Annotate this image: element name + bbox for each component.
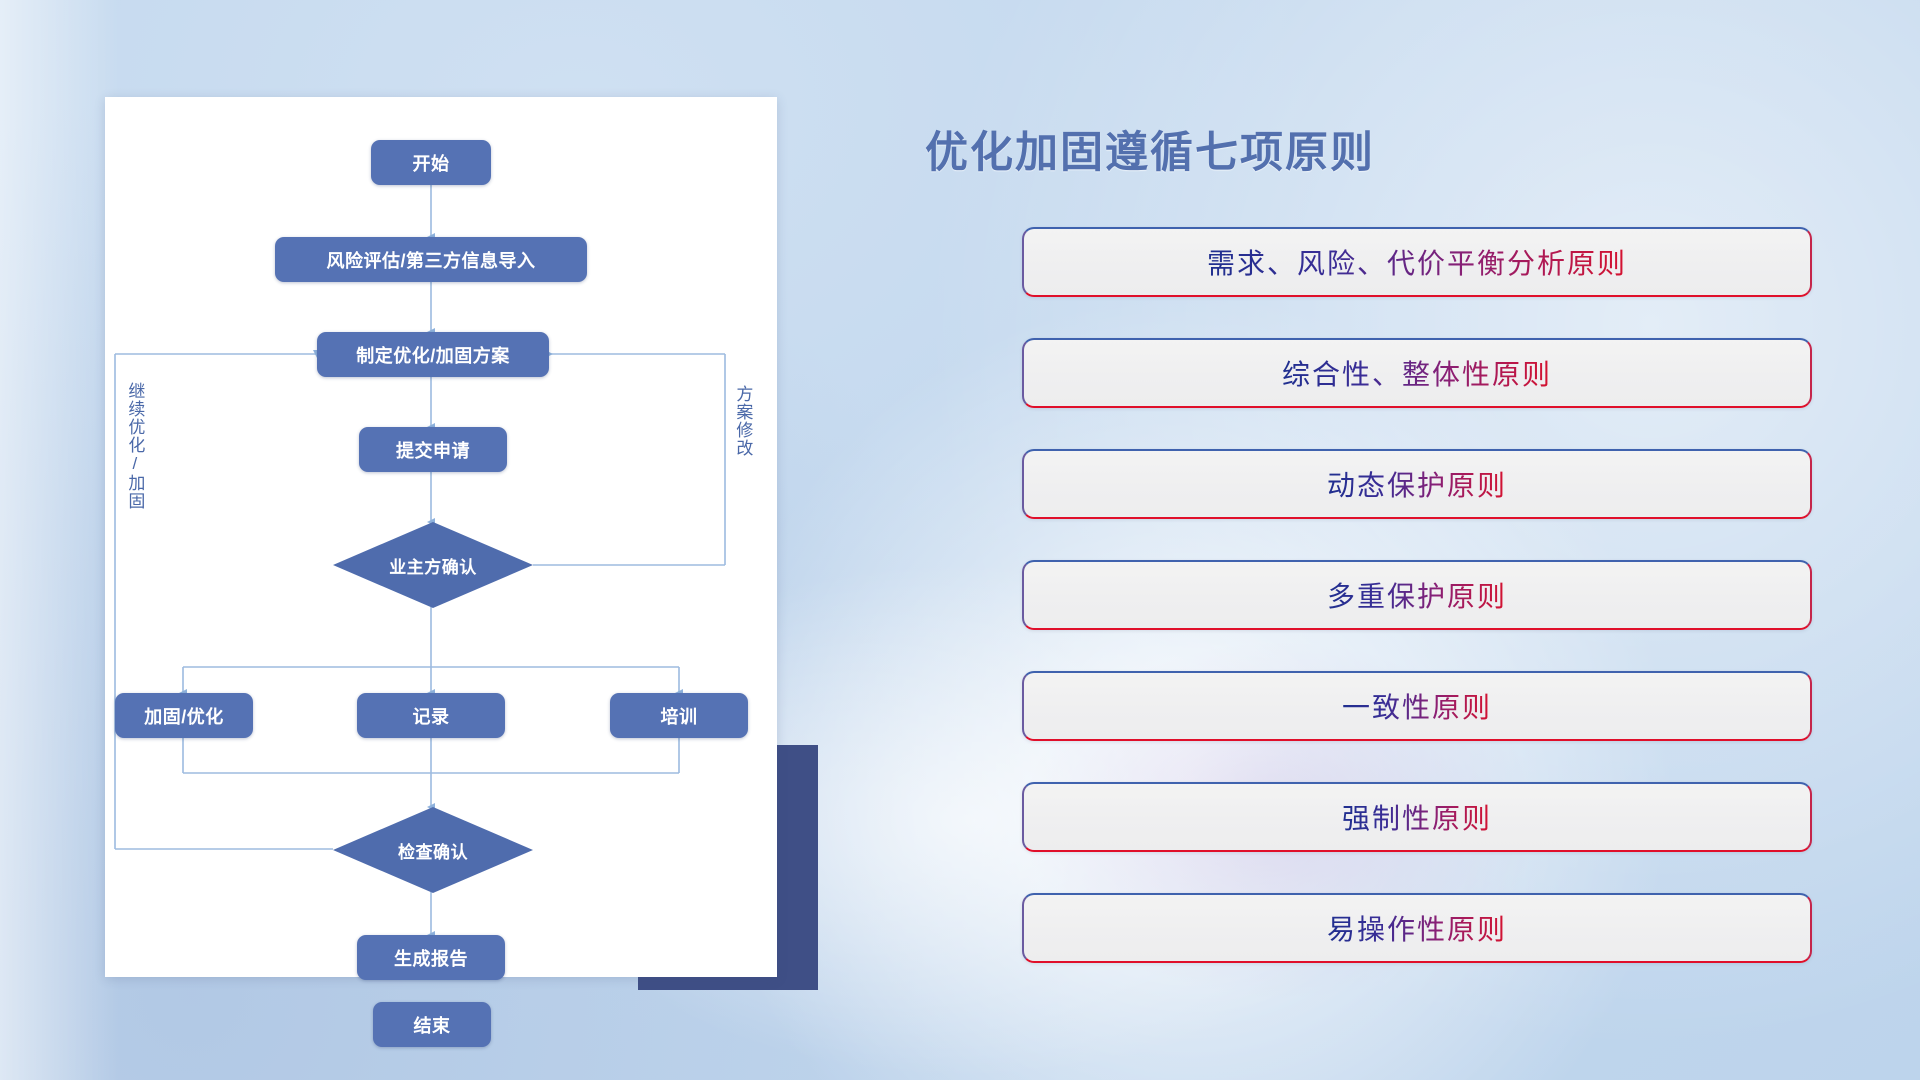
flow-node-label: 结束	[414, 1012, 451, 1038]
flow-edge-label-continue-optimize: 继续优化/加固	[125, 382, 143, 510]
flow-node-label: 记录	[413, 703, 450, 729]
flow-node-label: 检查确认	[398, 838, 468, 863]
principle-label: 强制性原则	[1342, 797, 1492, 837]
principle-item[interactable]: 多重保护原则	[1022, 560, 1812, 630]
flow-node-label: 开始	[413, 150, 450, 176]
flow-node-training[interactable]: 培训	[610, 693, 748, 738]
flow-node-end[interactable]: 结束	[373, 1002, 491, 1047]
principle-item[interactable]: 一致性原则	[1022, 671, 1812, 741]
background-light-band	[0, 0, 120, 1080]
flow-node-submit-application[interactable]: 提交申请	[359, 427, 507, 472]
principle-label: 易操作性原则	[1327, 908, 1507, 948]
flow-edge-label-plan-revision: 方案修改	[733, 385, 751, 457]
flow-node-record[interactable]: 记录	[357, 693, 505, 738]
flow-node-make-plan[interactable]: 制定优化/加固方案	[317, 332, 549, 377]
flow-node-label: 风险评估/第三方信息导入	[327, 247, 536, 273]
flow-node-generate-report[interactable]: 生成报告	[357, 935, 505, 980]
flow-decision-owner-confirm[interactable]: 业主方确认	[333, 522, 533, 608]
page-title: 优化加固遵循七项原则	[925, 118, 1375, 180]
principles-list: 需求、风险、代价平衡分析原则 综合性、整体性原则 动态保护原则 多重保护原则 一…	[1022, 227, 1812, 963]
flow-node-start[interactable]: 开始	[371, 140, 491, 185]
principle-item[interactable]: 易操作性原则	[1022, 893, 1812, 963]
flow-node-reinforce-optimize[interactable]: 加固/优化	[115, 693, 253, 738]
flowchart-card: 开始 风险评估/第三方信息导入 制定优化/加固方案 提交申请 业主方确认 加固/…	[105, 97, 777, 977]
flow-node-label: 生成报告	[394, 945, 468, 971]
principle-label: 一致性原则	[1342, 686, 1492, 726]
flow-decision-inspection-confirm[interactable]: 检查确认	[333, 807, 533, 893]
principle-item[interactable]: 动态保护原则	[1022, 449, 1812, 519]
principle-item[interactable]: 需求、风险、代价平衡分析原则	[1022, 227, 1812, 297]
flow-node-label: 加固/优化	[144, 703, 224, 729]
principle-item[interactable]: 强制性原则	[1022, 782, 1812, 852]
principle-label: 需求、风险、代价平衡分析原则	[1207, 242, 1627, 282]
principle-label: 动态保护原则	[1327, 464, 1507, 504]
flow-node-label: 制定优化/加固方案	[356, 342, 510, 368]
principle-item[interactable]: 综合性、整体性原则	[1022, 338, 1812, 408]
flow-node-label: 业主方确认	[389, 553, 477, 578]
flow-node-label: 提交申请	[396, 437, 470, 463]
flow-node-label: 培训	[661, 703, 698, 729]
principle-label: 综合性、整体性原则	[1282, 353, 1552, 393]
flow-node-risk-assessment[interactable]: 风险评估/第三方信息导入	[275, 237, 587, 282]
principle-label: 多重保护原则	[1327, 575, 1507, 615]
